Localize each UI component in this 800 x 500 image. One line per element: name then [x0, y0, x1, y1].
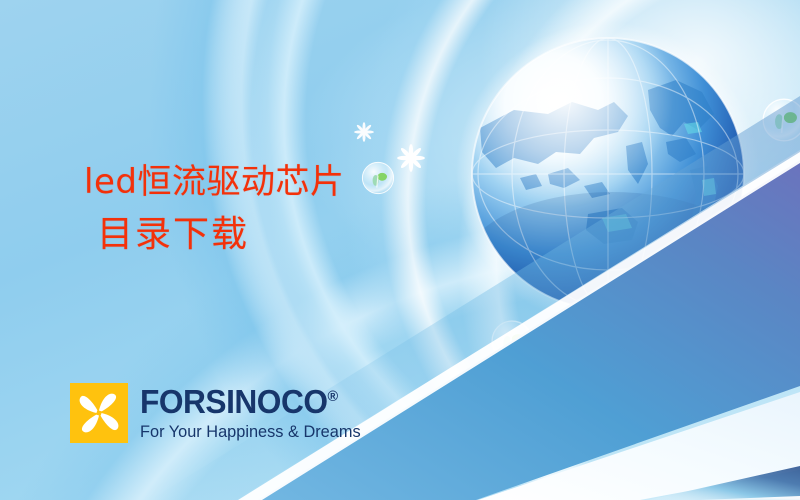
logo-tagline: For Your Happiness & Dreams: [140, 424, 361, 441]
headline-line-2: 目录下载: [97, 213, 344, 257]
registered-trademark-symbol: ®: [328, 388, 339, 405]
pinwheel-flower-icon: [70, 383, 128, 443]
snowflake-icon: [396, 143, 426, 173]
world-globe-icon: [452, 18, 764, 330]
promo-banner: led恒流驱动芯片 目录下载 FORSINOCO® For Your Happi…: [0, 0, 800, 500]
logo-wordmark-text: FORSINOCO: [140, 383, 328, 420]
headline: led恒流驱动芯片 目录下载: [84, 162, 344, 257]
bubble-sprout-icon: [360, 160, 396, 196]
pinwheel-petals: [70, 383, 128, 443]
headline-line-1: led恒流驱动芯片: [84, 162, 344, 203]
bubble-sprout-icon: [760, 96, 800, 144]
snowflake-icon: [353, 121, 375, 143]
brand-logo[interactable]: FORSINOCO® For Your Happiness & Dreams: [70, 383, 363, 443]
bubble-sprout-icon: [489, 318, 535, 364]
logo-text-block: FORSINOCO® For Your Happiness & Dreams: [140, 383, 363, 441]
logo-wordmark: FORSINOCO®: [140, 385, 354, 418]
